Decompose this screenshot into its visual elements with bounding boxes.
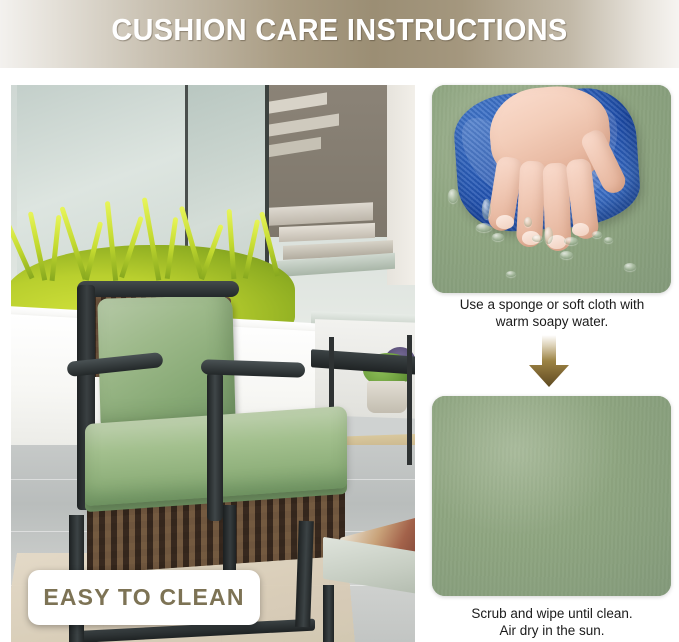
plant-pot xyxy=(367,381,407,413)
caption-line-1: Scrub and wipe until clean. xyxy=(425,605,679,622)
caption-line-1: Use a sponge or soft cloth with xyxy=(425,296,679,313)
water-droplet xyxy=(532,235,543,242)
step-wipe-image xyxy=(432,85,671,293)
water-droplet xyxy=(560,251,573,259)
fingernail xyxy=(496,215,514,229)
cushion-sheen xyxy=(432,396,623,536)
water-droplet xyxy=(476,223,492,232)
header-banner: CUSHION CARE INSTRUCTIONS xyxy=(0,0,679,68)
water-droplet xyxy=(506,271,516,277)
chair-arm-left-post xyxy=(71,365,87,525)
water-droplet xyxy=(482,199,491,219)
easy-to-clean-badge: EASY TO CLEAN xyxy=(28,570,260,625)
caption-line-2: Air dry in the sun. xyxy=(425,622,679,639)
chair-back-rail xyxy=(77,281,239,297)
water-droplet xyxy=(624,263,636,271)
step-wipe-caption: Use a sponge or soft cloth with warm soa… xyxy=(425,296,679,330)
hero-product-photo xyxy=(11,85,415,642)
caption-line-2: warm soapy water. xyxy=(425,313,679,330)
ledge-leg xyxy=(407,335,412,465)
page-title: CUSHION CARE INSTRUCTIONS xyxy=(24,12,655,48)
badge-label: EASY TO CLEAN xyxy=(43,584,244,611)
water-droplet xyxy=(592,231,602,238)
water-droplet xyxy=(524,217,532,227)
infographic-page: CUSHION CARE INSTRUCTIONS xyxy=(0,0,679,642)
fingernail xyxy=(572,223,589,236)
side-table-leg xyxy=(323,585,334,642)
step-dry-image xyxy=(432,396,671,596)
water-droplet xyxy=(604,237,613,243)
water-droplet xyxy=(544,227,553,244)
chair-arm-right-post xyxy=(207,371,223,521)
water-droplet xyxy=(492,233,504,241)
down-arrow-icon xyxy=(527,335,571,387)
water-droplet xyxy=(448,189,458,203)
step-dry-caption: Scrub and wipe until clean. Air dry in t… xyxy=(425,605,679,639)
water-droplet xyxy=(564,237,578,245)
